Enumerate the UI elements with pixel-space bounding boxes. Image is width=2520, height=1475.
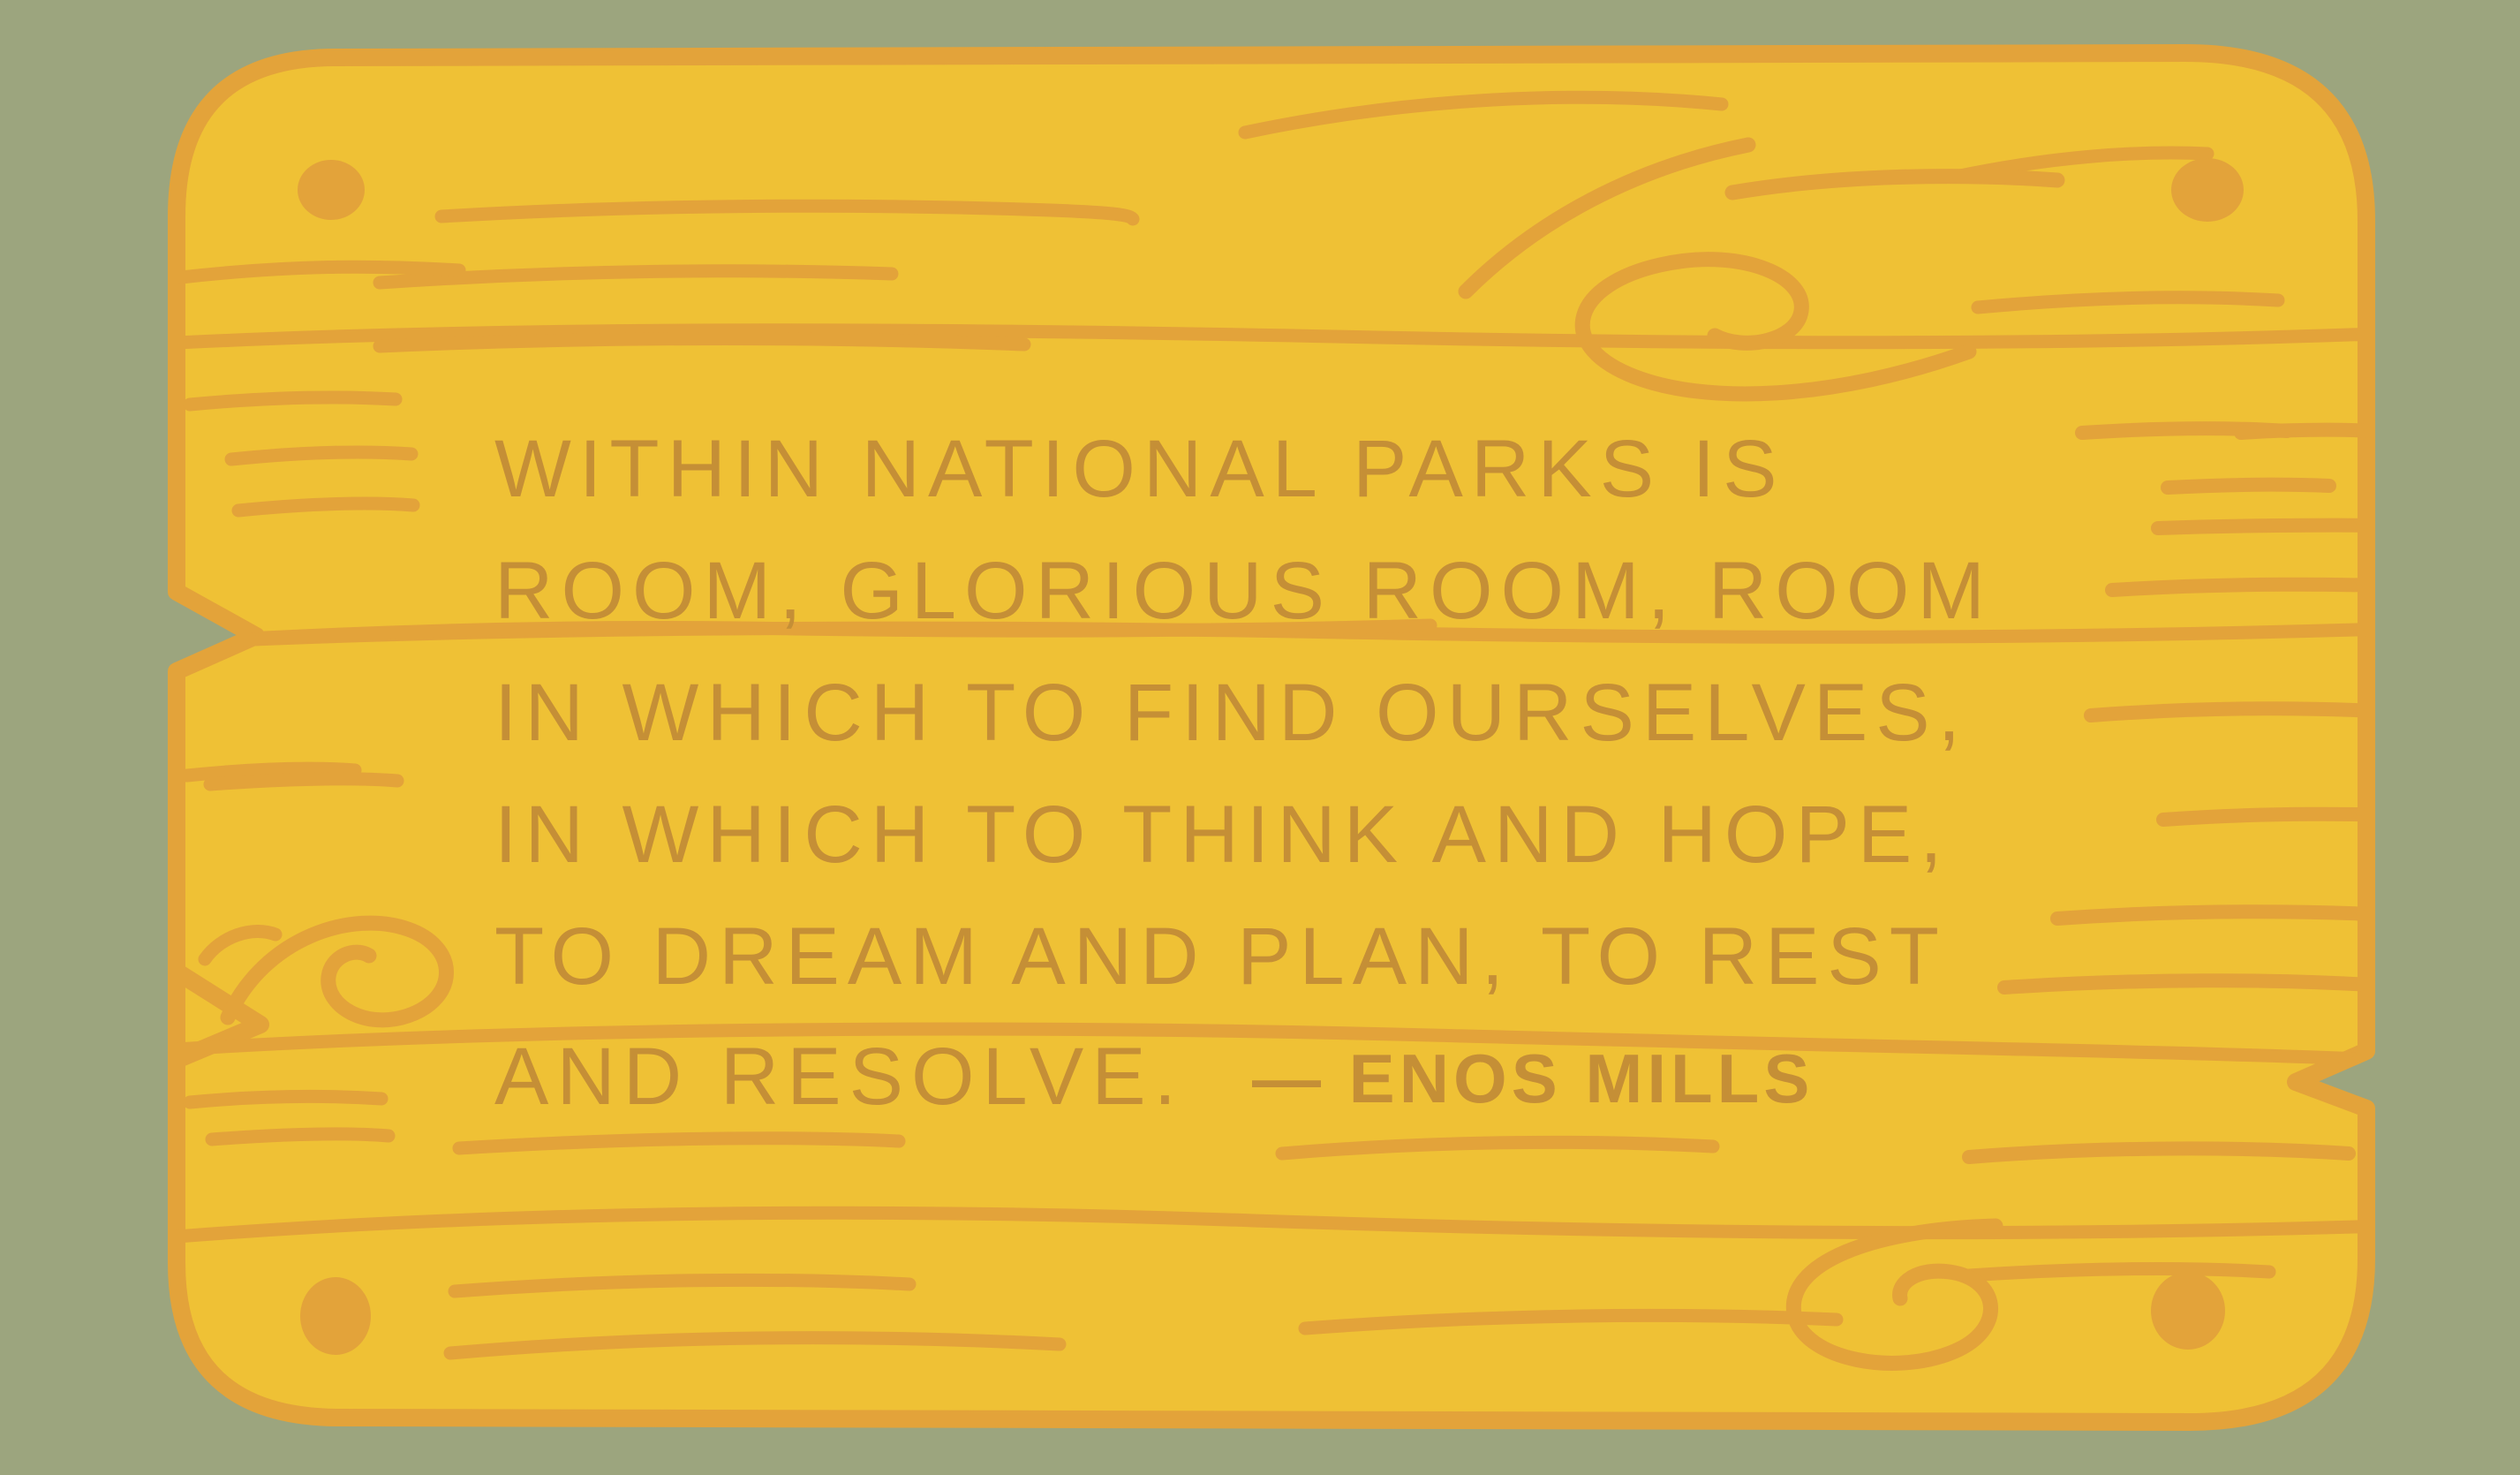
grain-line-30 xyxy=(1969,1269,2269,1275)
grain-line-10 xyxy=(238,503,413,511)
grain-line-16 xyxy=(2241,430,2375,433)
dot-top-left-icon xyxy=(298,160,365,220)
quote-line-2: ROOM, GLORIOUS ROOM, ROOM xyxy=(494,546,1993,636)
grain-line-22 xyxy=(2057,911,2419,919)
grain-line-23 xyxy=(2004,980,2384,987)
grain-line-4 xyxy=(380,339,1024,347)
dot-bottom-left-icon xyxy=(300,1277,371,1355)
quote-line-1: WITHIN NATIONAL PARKS IS xyxy=(494,424,1785,514)
quote-line-3: IN WHICH TO FIND OURSELVES, xyxy=(494,668,1968,758)
grain-line-13 xyxy=(190,1096,381,1102)
dot-top-right-icon xyxy=(2171,158,2244,222)
dot-bottom-right-icon xyxy=(2151,1272,2225,1350)
grain-line-17 xyxy=(2168,485,2329,488)
quote-attribution: — ENOS MILLS xyxy=(1252,1040,1814,1117)
scene-root: WITHIN NATIONAL PARKS IS ROOM, GLORIOUS … xyxy=(0,0,2520,1475)
quote-line-5: TO DREAM AND PLAN, TO REST xyxy=(494,911,1947,1002)
grain-line-8 xyxy=(190,397,396,405)
wooden-sign-illustration: WITHIN NATIONAL PARKS IS ROOM, GLORIOUS … xyxy=(0,0,2520,1475)
grain-line-24 xyxy=(1969,1148,2349,1157)
grain-line-14 xyxy=(212,1134,389,1139)
quote-line-4: IN WHICH TO THINK AND HOPE, xyxy=(494,790,1950,880)
grain-line-12 xyxy=(210,779,397,784)
quote-line-6: AND RESOLVE. xyxy=(494,1032,1184,1122)
grain-line-9 xyxy=(231,452,411,459)
